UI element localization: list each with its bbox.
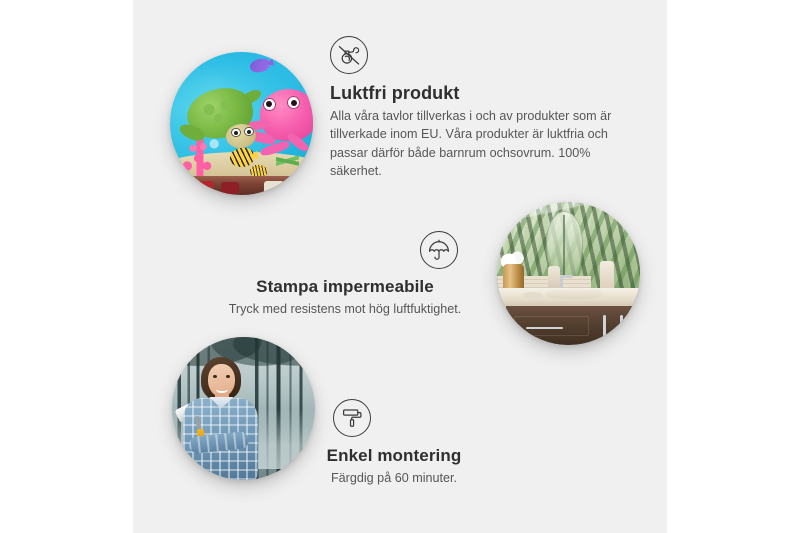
sink-basin — [546, 289, 603, 299]
forest-canopy — [172, 337, 315, 386]
underwater-scene — [170, 52, 313, 195]
no-fragrance-icon — [330, 36, 368, 74]
foreground-detail — [190, 181, 213, 194]
underwater-cartoon-photo — [170, 52, 313, 195]
feature-mounting: Enkel montering Färgdig på 60 minuter. — [300, 399, 488, 487]
feature-waterproof: Stampa impermeabile Tryck med resistens … — [212, 231, 478, 318]
feature-waterproof-title: Stampa impermeabile — [212, 277, 478, 297]
feature-odorless-icon-row — [330, 36, 630, 74]
feature-odorless-body: Alla våra tavlor tillverkas i och av pro… — [330, 107, 630, 181]
painter-scene — [172, 337, 315, 480]
cabinet-handle — [620, 315, 623, 339]
painter-forest-photo — [172, 337, 315, 480]
octopus-head — [260, 89, 313, 140]
drawer-pull — [526, 327, 563, 330]
turtle-eye — [231, 128, 240, 137]
cabinet-handle — [603, 315, 606, 339]
turtle-eye — [244, 127, 253, 136]
octopus-eye — [263, 98, 276, 111]
woman-smile — [216, 386, 227, 393]
feature-mounting-body: Färgdig på 60 minuter. — [300, 469, 488, 487]
paint-roller-icon — [333, 399, 371, 437]
umbrella-icon — [420, 231, 458, 269]
bathroom-interior-photo — [497, 202, 640, 345]
page-root: Luktfri produkt Alla våra tavlor tillver… — [0, 0, 800, 533]
feature-mounting-icon-row — [300, 399, 488, 437]
feature-odorless-title: Luktfri produkt — [330, 83, 630, 104]
feature-waterproof-body: Tryck med resistens mot hög luftfuktighe… — [212, 300, 478, 318]
woman-eye — [226, 375, 230, 378]
foreground-detail — [264, 181, 284, 194]
feature-mounting-title: Enkel montering — [300, 446, 488, 466]
feature-odorless: Luktfri produkt Alla våra tavlor tillver… — [330, 36, 630, 181]
bathroom-scene — [497, 202, 640, 345]
feature-waterproof-icon-row — [212, 231, 478, 269]
foreground-detail — [221, 182, 238, 193]
